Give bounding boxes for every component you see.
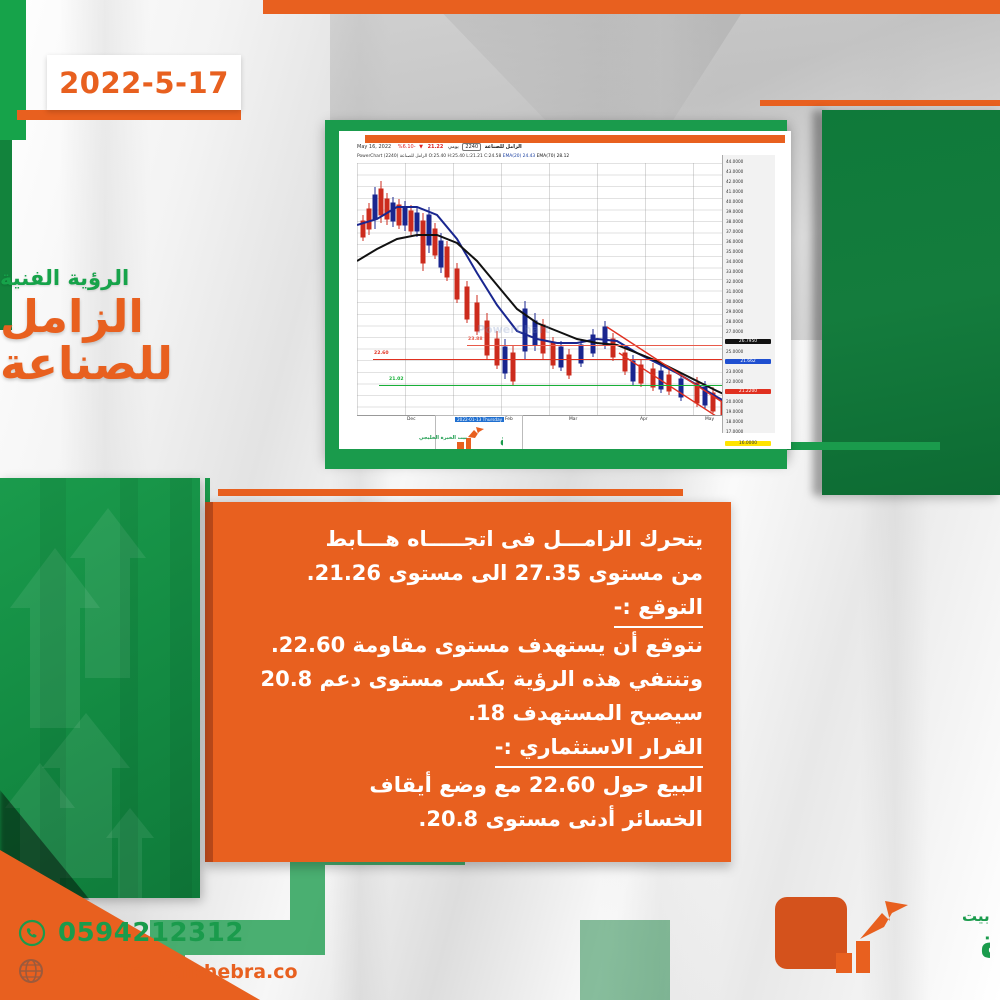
date-text: 2022-5-17: [59, 66, 229, 100]
globe-icon: [18, 958, 46, 986]
chart-inner: الزامل للصناعة 2240 يومي 21.22 ▼ -6.10% …: [339, 131, 791, 449]
y-tick: 37.0000: [726, 229, 743, 234]
chart-symbol-name: الزامل للصناعة: [485, 144, 522, 150]
chart-last-price: 21.22: [428, 144, 444, 150]
y-tick: 36.0000: [726, 239, 743, 244]
level-label-2388: 23.88: [468, 337, 483, 342]
whatsapp-icon: [18, 919, 46, 947]
chart-ohlc-line: PowerChart الزامل للصناعة (2240) O:25.40…: [357, 154, 569, 159]
page-title: الزامل للصناعة: [0, 293, 297, 388]
chart-card: الزامل للصناعة 2240 يومي 21.22 ▼ -6.10% …: [339, 131, 791, 449]
y-tick: 19.0000: [726, 409, 743, 414]
page-subtitle: الرؤية الفنية: [0, 268, 297, 289]
chart-plot-area: PowerChart 23.88 22.60 21.02 الخبرة: [357, 163, 740, 416]
x-tick: Feb: [505, 417, 513, 422]
down-triangle-icon: ▼: [419, 144, 423, 150]
x-tick: Apr: [640, 417, 648, 422]
chart-top-orange-line: [365, 135, 785, 143]
y-tick: 40.0000: [726, 199, 743, 204]
chart-x-axis: Dec 2022-01-13 Thursday Feb Mar Apr May: [357, 417, 739, 429]
y-tick: 34.0000: [726, 259, 743, 264]
y-tick: 25.0000: [726, 349, 743, 354]
chart-change-pct: -6.10%: [398, 144, 416, 150]
y-tick: 20.0000: [726, 399, 743, 404]
x-tick: May: [705, 417, 714, 422]
date-underline: [17, 110, 241, 120]
bayt-alkhebra-logo: الخبرة بيت: [830, 895, 990, 983]
y-tick: 22.0000: [726, 379, 743, 384]
analysis-line: نتوقع أن يستهدف مستوى مقاومة 22.60.: [237, 628, 703, 662]
top-orange-bar: [263, 0, 1000, 14]
footer-contact: 0594212312 www.bayt-alkhebra.co: [18, 918, 318, 996]
footer-phone-row[interactable]: 0594212312: [18, 918, 318, 948]
chart-bottom-strip: [325, 455, 787, 469]
level-label-2260: 22.60: [374, 351, 389, 356]
svg-text:الخبرة: الخبرة: [500, 431, 503, 449]
y-tick: 27.0000: [726, 329, 743, 334]
svg-text:بيت: بيت: [962, 907, 990, 925]
analysis-text-block: يتحرك الزامـــل فى اتجـــــاه هـــابط من…: [213, 502, 731, 862]
analysis-line: البيع حول 22.60 مع وضع أيقاف: [237, 768, 703, 802]
top-right-orange-line: [760, 100, 1000, 106]
analysis-line: يتحرك الزامـــل فى اتجـــــاه هـــابط: [237, 522, 703, 556]
analysis-heading-decision: القرار الاستثماري :-: [495, 730, 703, 768]
y-tick: 33.0000: [726, 269, 743, 274]
y-label-last-price: 21.2200: [725, 389, 771, 394]
level-line-2388: [467, 345, 739, 346]
y-tick: 44.0000: [726, 159, 743, 164]
y-tick: 41.0000: [726, 189, 743, 194]
y-tick: 35.0000: [726, 249, 743, 254]
poster-canvas: 2022-5-17 الرؤية الفنية الزامل للصناعة ا…: [0, 0, 1000, 1000]
analysis-line: سيصبح المستهدف 18.: [237, 696, 703, 730]
chart-series-svg: [357, 163, 739, 415]
y-tick: 32.0000: [726, 279, 743, 284]
analysis-line: وتنتفي هذه الرؤية بكسر مستوى دعم 20.8: [237, 662, 703, 696]
analysis-line: الخسائر أدنى مستوى 20.8.: [237, 802, 703, 836]
footer-website-url: www.bayt-alkhebra.co: [58, 961, 298, 983]
y-tick: 23.0000: [726, 369, 743, 374]
analysis-line: من مستوى 27.35 الى مستوى 21.26.: [237, 556, 703, 590]
chart-ma1-label: EMA(20) 24.43: [503, 154, 536, 159]
right-green-block: [822, 110, 1000, 495]
chart-logo-caption: بيت الخبرة الخليجي: [419, 435, 467, 441]
chart-header-date: May 16, 2022: [357, 144, 391, 150]
y-label-highlight-dark: 26.7950: [725, 339, 771, 344]
y-tick: 43.0000: [726, 169, 743, 174]
svg-text:الخبرة: الخبرة: [980, 921, 990, 967]
footer-website-row[interactable]: www.bayt-alkhebra.co: [18, 958, 318, 986]
y-tick: 39.0000: [726, 209, 743, 214]
y-tick: 31.0000: [726, 289, 743, 294]
x-tick: Mar: [569, 417, 577, 422]
date-chip: 2022-5-17: [47, 55, 241, 110]
y-label-cursor: 16.0000: [725, 441, 771, 446]
level-line-2102: [379, 385, 739, 386]
chart-symbol-code: 2240: [462, 143, 481, 151]
chart-timeframe: يومي: [448, 144, 459, 150]
chart-ohlc-text: PowerChart الزامل للصناعة (2240) O:25.40…: [357, 154, 501, 159]
heading-group: الرؤية الفنية الزامل للصناعة: [0, 268, 297, 388]
y-label-highlight-ma: 21.662: [725, 359, 771, 364]
y-tick: 28.0000: [726, 319, 743, 324]
chart-header-line: الزامل للصناعة 2240 يومي 21.22 ▼ -6.10% …: [357, 144, 522, 150]
level-line-2260: [373, 359, 739, 360]
brand-logo-group: الخبرة بيت: [775, 895, 990, 985]
x-tick: Dec: [407, 417, 416, 422]
x-label-highlight: 2022-01-13 Thursday: [455, 417, 504, 422]
level-label-2102: 21.02: [389, 377, 404, 382]
section-divider: [218, 489, 683, 496]
y-tick: 42.0000: [726, 179, 743, 184]
analysis-panel: يتحرك الزامـــل فى اتجـــــاه هـــابط من…: [213, 502, 731, 862]
y-tick: 30.0000: [726, 299, 743, 304]
chart-y-axis: 44.0000 43.0000 42.0000 41.0000 40.0000 …: [722, 155, 775, 433]
analysis-heading-forecast: التوقع :-: [614, 590, 703, 628]
y-tick: 17.0000: [726, 429, 743, 434]
chart-watermark: PowerChart: [477, 323, 550, 336]
chart-ma2-label: EMA(70) 28.12: [537, 154, 570, 159]
y-tick: 29.0000: [726, 309, 743, 314]
footer-phone-number: 0594212312: [58, 918, 244, 948]
y-tick: 38.0000: [726, 219, 743, 224]
